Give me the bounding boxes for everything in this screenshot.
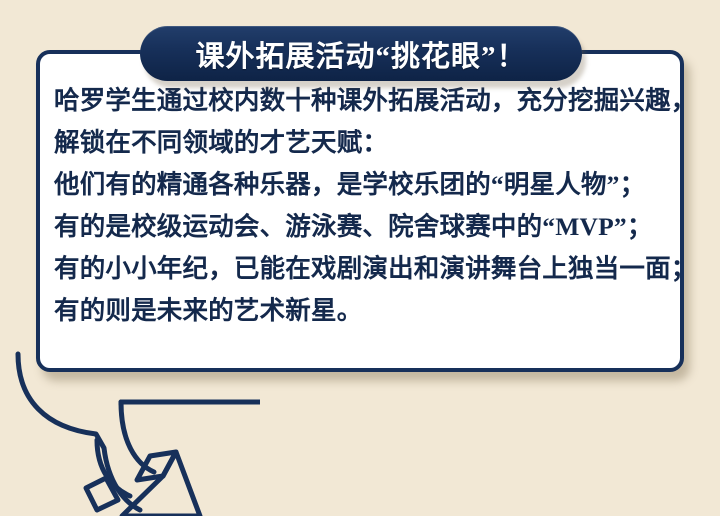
body-line-2: 解锁在不同领域的才艺天赋： xyxy=(54,122,670,164)
body-line-3: 他们有的精通各种乐器，是学校乐团的“明星人物”； xyxy=(54,164,670,206)
card-body: 哈罗学生通过校内数十种课外拓展活动，充分挖掘兴趣， 解锁在不同领域的才艺天赋： … xyxy=(54,80,670,332)
page-title: 课外拓展活动“挑花眼”！ xyxy=(195,33,526,75)
title-banner-pill: 课外拓展活动“挑花眼”！ xyxy=(140,26,582,81)
body-line-4: 有的是校级运动会、游泳赛、院舍球赛中的“MVP”； xyxy=(54,206,670,248)
body-line-5: 有的小小年纪，已能在戏剧演出和演讲舞台上独当一面； xyxy=(54,248,670,290)
body-line-6: 有的则是未来的艺术新星。 xyxy=(54,290,670,332)
content-card: 哈罗学生通过校内数十种课外拓展活动，充分挖掘兴趣， 解锁在不同领域的才艺天赋： … xyxy=(36,50,684,372)
poster-stage: 哈罗学生通过校内数十种课外拓展活动，充分挖掘兴趣， 解锁在不同领域的才艺天赋： … xyxy=(0,0,720,516)
title-banner: 课外拓展活动“挑花眼”！ xyxy=(140,26,582,81)
